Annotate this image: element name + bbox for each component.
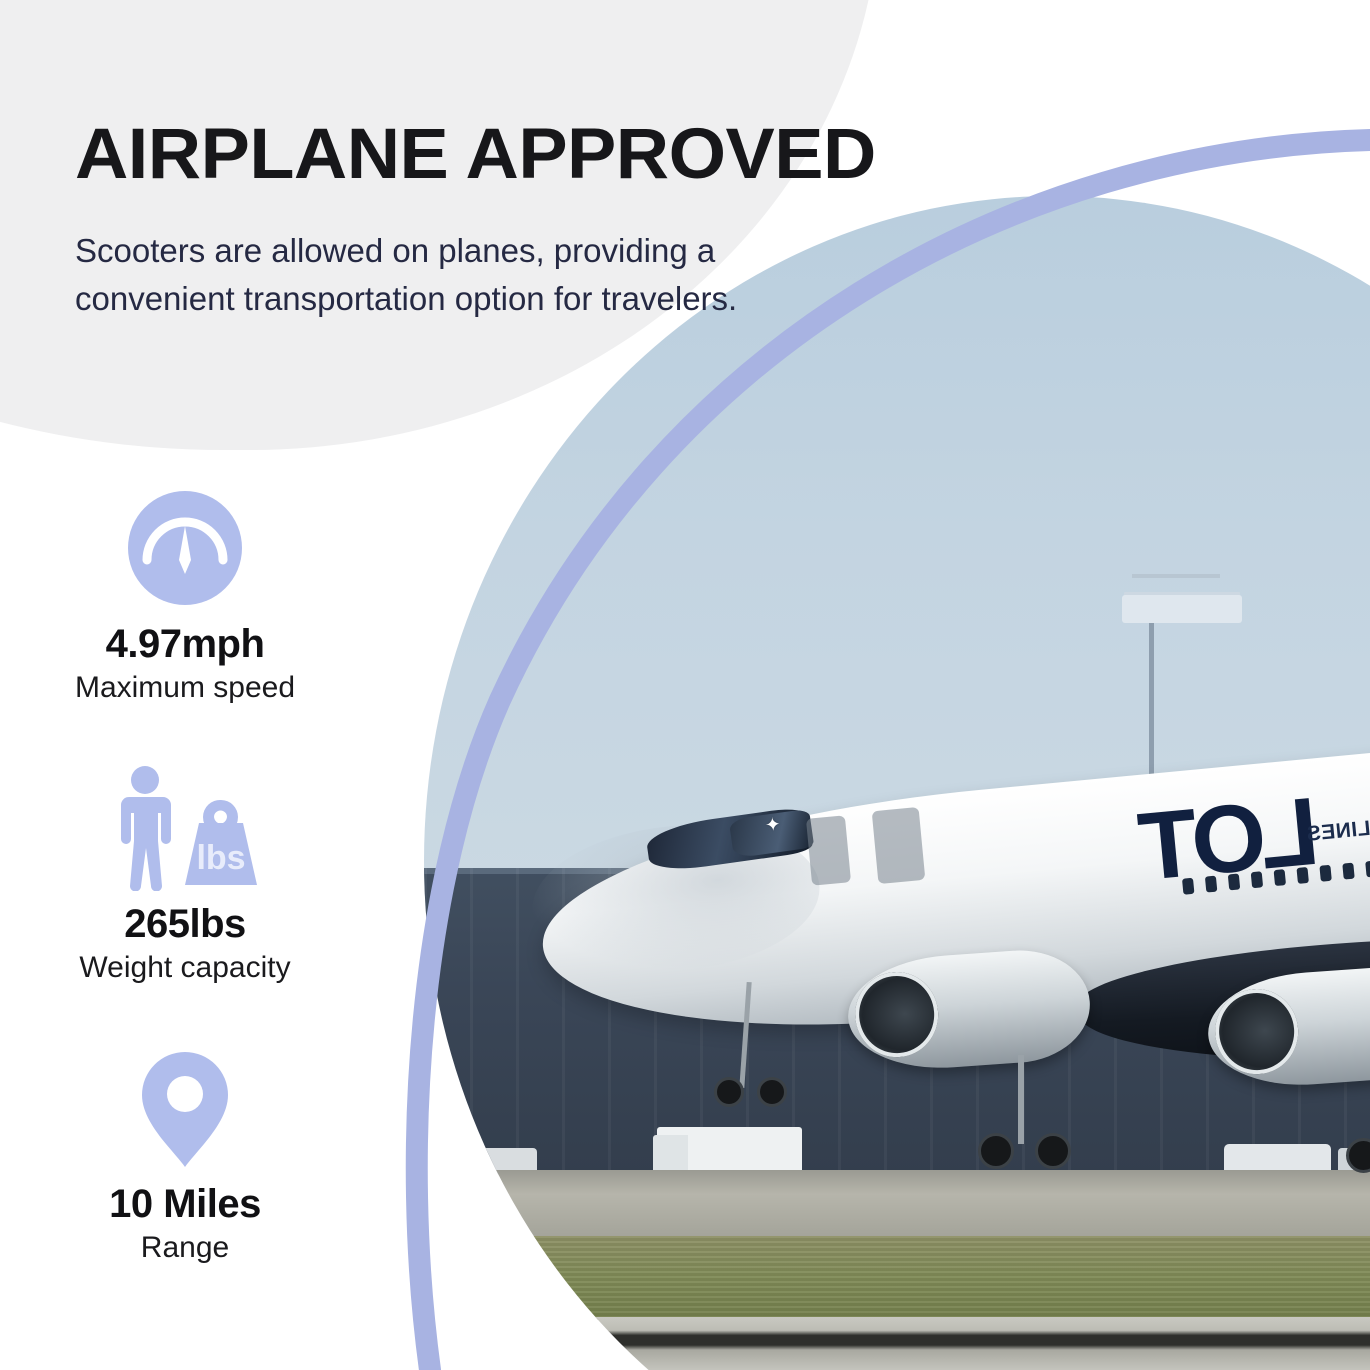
stat-maximum-speed: 4.97mph Maximum speed [0, 478, 370, 705]
stat-weight-capacity: lbs 265lbs Weight capacity [0, 758, 370, 985]
forward-door [805, 816, 850, 886]
runway [424, 1317, 1370, 1370]
speedometer-icon [0, 478, 370, 618]
service-door [872, 807, 926, 884]
stat-label: Maximum speed [0, 671, 370, 705]
light-pole-arm [1132, 574, 1220, 578]
page-subtitle: Scooters are allowed on planes, providin… [75, 227, 775, 323]
grass-strip-back [424, 1236, 1370, 1320]
stat-range: 10 Miles Range [0, 1038, 370, 1265]
photo-content: ✦ LOT POLISH AIRLINES [424, 196, 1370, 1370]
page-title: AIRPLANE APPROVED [75, 114, 876, 195]
main-wheel [978, 1133, 1014, 1169]
stat-value: 4.97mph [0, 622, 370, 667]
stat-label: Range [0, 1231, 370, 1265]
airliner: ✦ LOT POLISH AIRLINES [474, 675, 1370, 1234]
light-pole-head [1122, 595, 1242, 623]
stat-value: 10 Miles [0, 1182, 370, 1227]
star-alliance-icon: ✦ [764, 814, 782, 838]
main-wheel [1346, 1138, 1370, 1173]
engine-intake [1213, 987, 1301, 1077]
nose-wheel [757, 1077, 787, 1107]
airplane-photo: ✦ LOT POLISH AIRLINES [424, 196, 1370, 1370]
engine-intake [852, 970, 940, 1060]
person-weight-icon: lbs [0, 758, 370, 898]
infographic-canvas: ✦ LOT POLISH AIRLINES [0, 0, 1370, 1370]
stat-label: Weight capacity [0, 951, 370, 985]
stat-value: 265lbs [0, 902, 370, 947]
main-gear-strut [1018, 1055, 1024, 1144]
main-wheel [1035, 1133, 1071, 1169]
map-pin-icon [0, 1038, 370, 1178]
nose-wheel [714, 1077, 744, 1107]
lbs-icon-text: lbs [196, 839, 245, 877]
